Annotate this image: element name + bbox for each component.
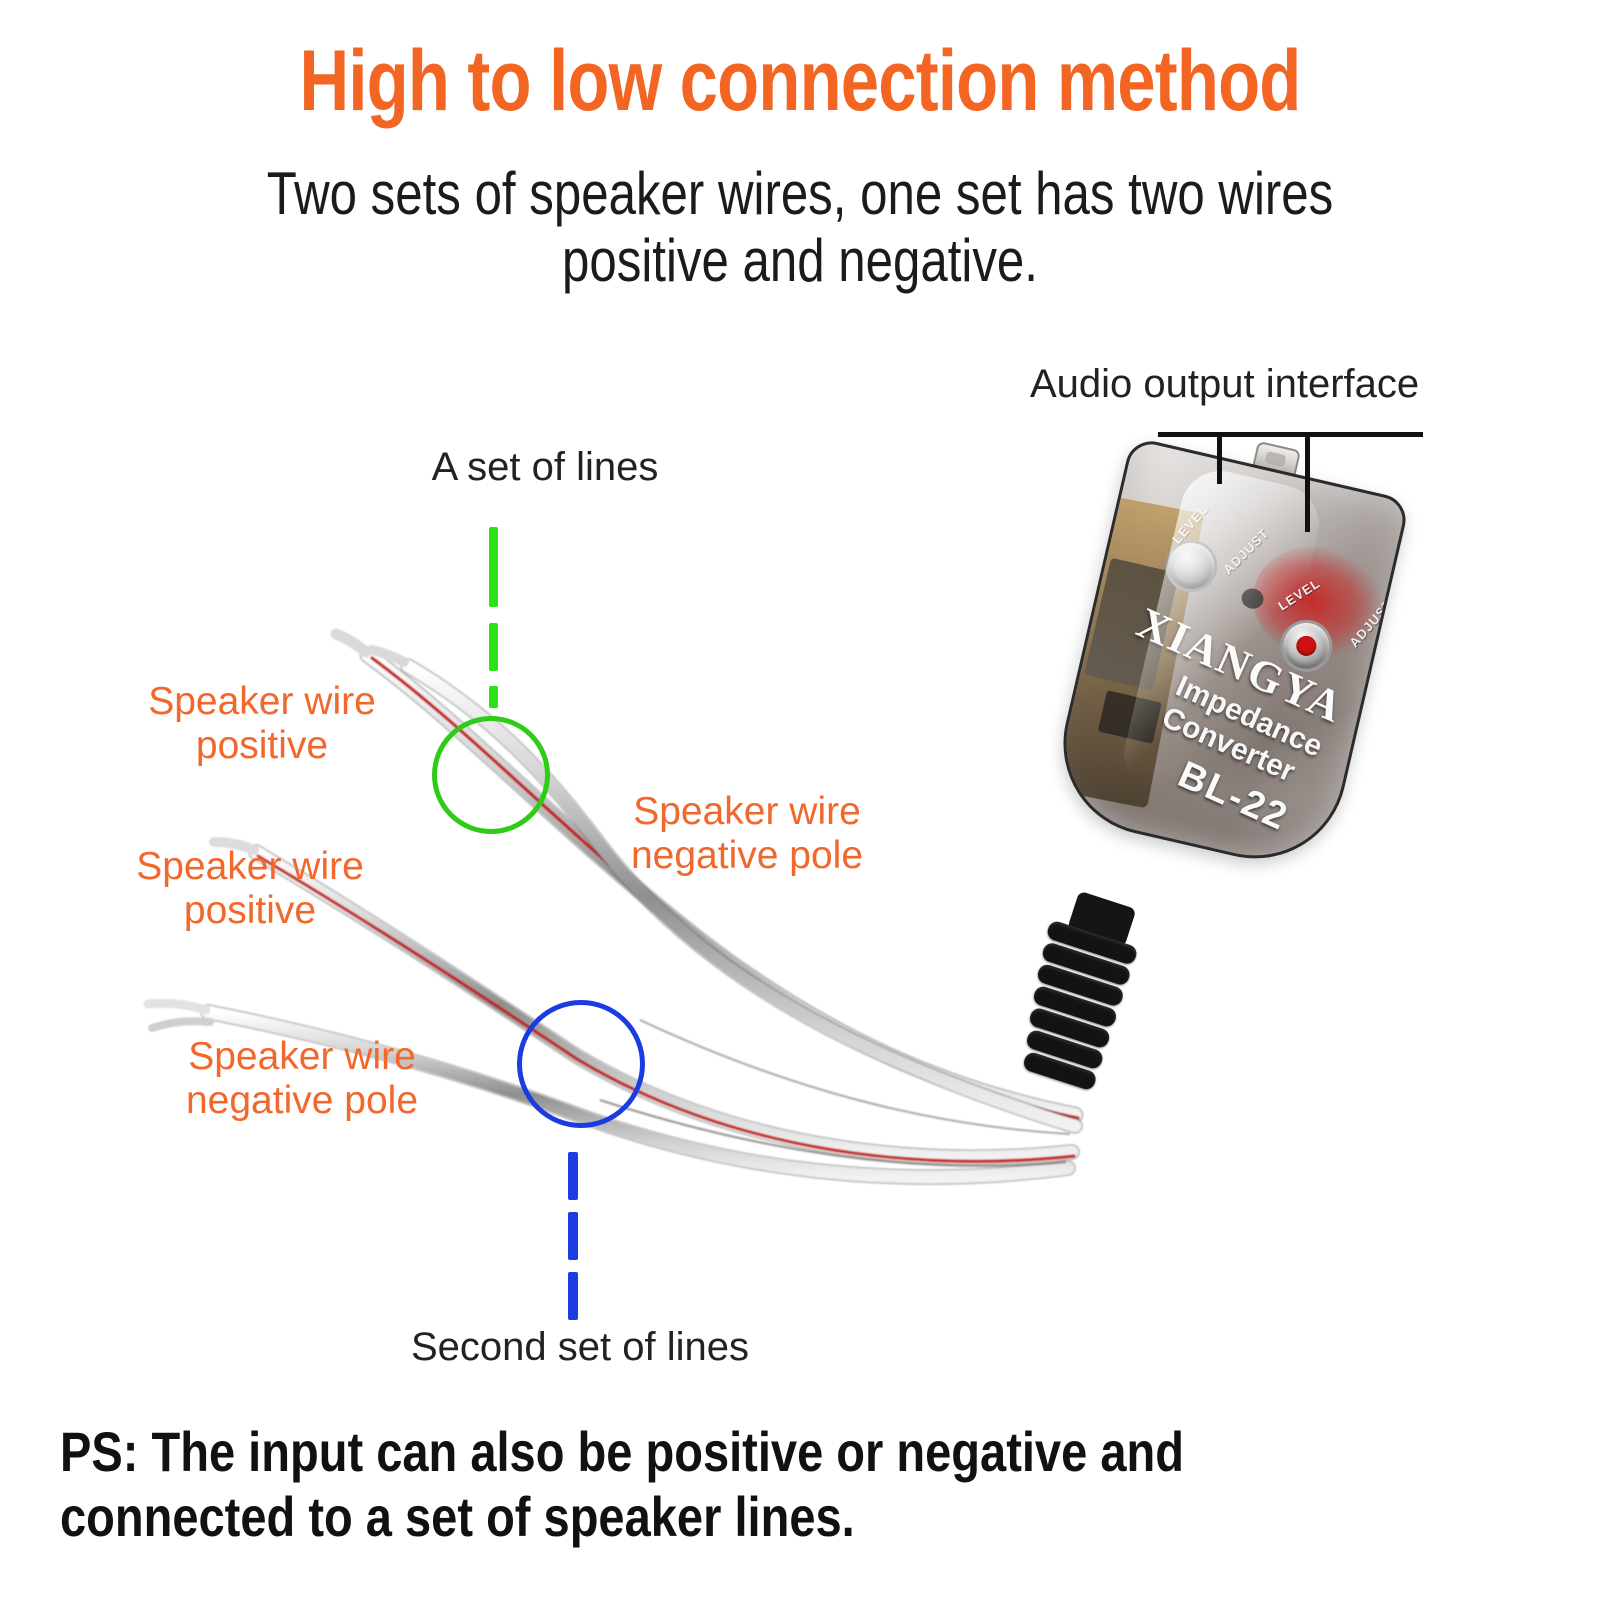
blue-dash-2: [568, 1212, 578, 1260]
green-dash-1: [489, 527, 498, 607]
page-title: High to low connection method: [160, 38, 1440, 124]
label-a-set-of-lines: A set of lines: [390, 445, 700, 490]
label-second-set-of-lines: Second set of lines: [360, 1325, 800, 1370]
second-set-of-lines-highlight-circle: [517, 1000, 645, 1128]
label-speaker-wire-positive-upper: Speaker wire positive: [112, 680, 412, 767]
label-speaker-wire-positive-lower: Speaker wire positive: [100, 845, 400, 932]
blue-dash-1: [568, 1152, 578, 1200]
audio-output-bracket-horizontal: [1158, 432, 1423, 437]
infographic-canvas: High to low connection method Two sets o…: [0, 0, 1600, 1600]
label-speaker-wire-negative-left: Speaker wire negative pole: [152, 1035, 452, 1122]
audio-output-bracket-leader-1: [1217, 432, 1222, 484]
page-subtitle: Two sets of speaker wires, one set has t…: [259, 160, 1341, 294]
label-audio-output-interface: Audio output interface: [1030, 362, 1575, 407]
label-speaker-wire-negative-mid: Speaker wire negative pole: [592, 790, 902, 877]
ps-note: PS: The input can also be positive or ne…: [60, 1420, 1253, 1550]
device-shell: LEVEL ADJUST LEVEL ADJUST XIANGYA Impeda…: [1045, 436, 1411, 876]
green-dash-2: [489, 623, 498, 671]
green-dash-3: [489, 686, 498, 708]
impedance-converter-device: LEVEL ADJUST LEVEL ADJUST XIANGYA Impeda…: [1048, 440, 1448, 940]
a-set-of-lines-highlight-circle: [432, 716, 550, 834]
blue-dash-3: [568, 1272, 578, 1320]
audio-output-bracket-leader-2: [1305, 432, 1310, 532]
level-knob-indicator: [1294, 634, 1318, 658]
